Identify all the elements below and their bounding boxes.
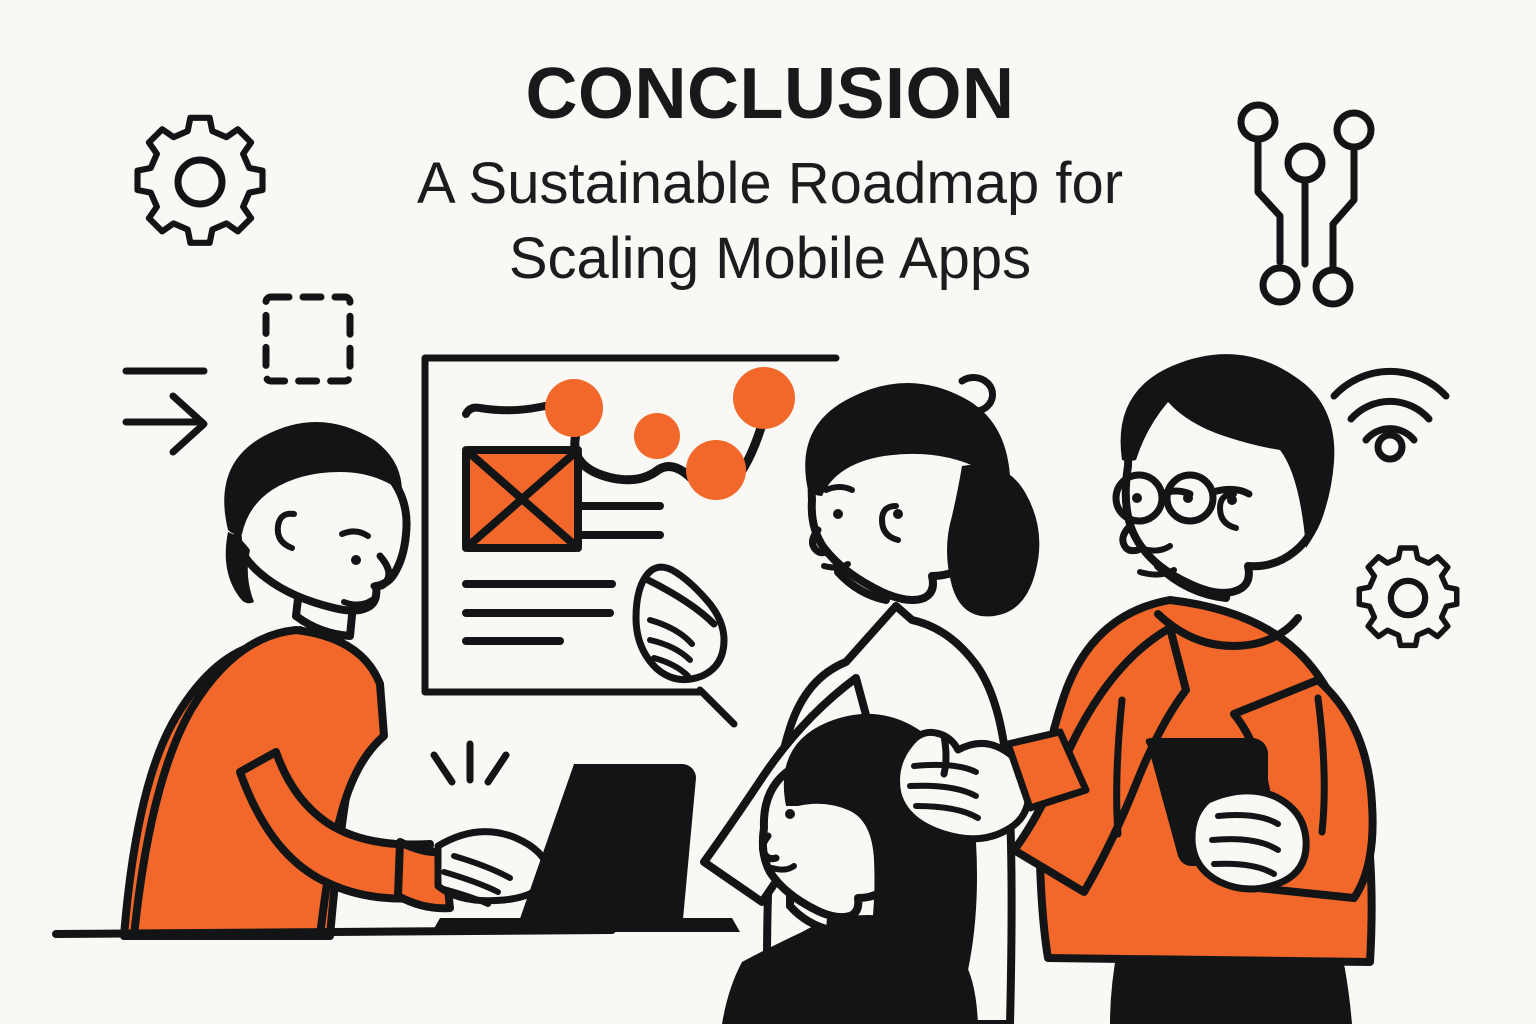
chart-point-4 <box>733 367 795 429</box>
chart-point-3 <box>686 440 746 500</box>
desk-line <box>56 930 612 934</box>
chart-point-1 <box>545 379 603 437</box>
chart-point-2 <box>634 413 680 459</box>
tablet-hand <box>1192 791 1306 889</box>
illustration-canvas: .ink { stroke:#121416; fill:none; stroke… <box>0 0 1536 1024</box>
illustration-artwork: .ink { stroke:#121416; fill:none; stroke… <box>0 0 1536 1024</box>
image-placeholder-orange-box <box>466 450 578 548</box>
